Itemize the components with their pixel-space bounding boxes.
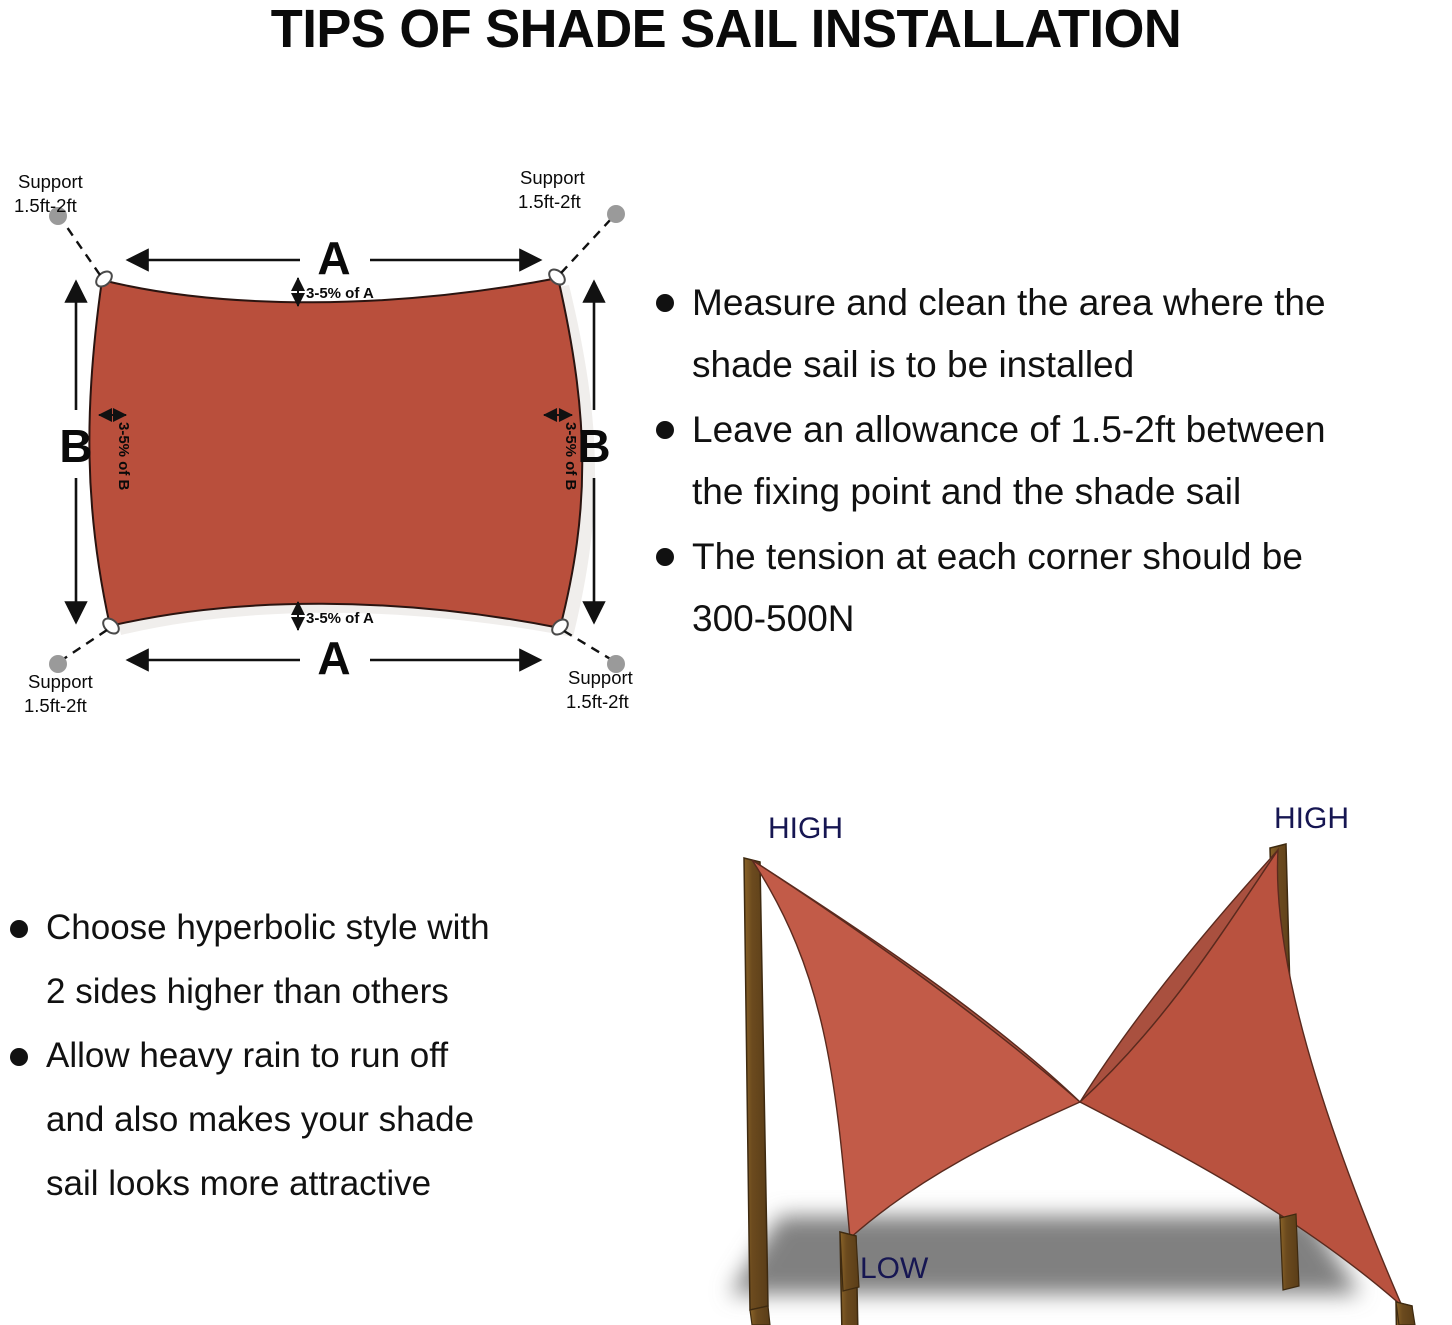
bullet-line: and also makes your shade (46, 1100, 474, 1139)
post-rear-left-high (744, 858, 768, 1310)
bullet-line: 2 sides higher than others (46, 972, 449, 1011)
list-item: Measure and clean the area where the sha… (648, 272, 1452, 396)
bullet-dot-icon (10, 920, 28, 938)
support-label-top-right-line2: 1.5ft-2ft (518, 191, 581, 212)
bullet-line: shade sail is to be installed (692, 344, 1134, 385)
bullet-line: Choose hyperbolic style with (46, 908, 490, 947)
tie-line-bottom-left (62, 630, 107, 660)
slack-label-right: 3-5% of B (562, 422, 579, 491)
bullet-dot-icon (656, 548, 674, 566)
sail-fabric (89, 278, 582, 628)
sail-left-lobe (752, 860, 1080, 1238)
tie-line-bottom-right (564, 631, 612, 660)
bullet-line: sail looks more attractive (46, 1164, 431, 1203)
bullet-line: Allow heavy rain to run off (46, 1036, 448, 1075)
list-item: The tension at each corner should be 300… (648, 526, 1452, 650)
post-front-right-low (1396, 1302, 1416, 1325)
support-label-bottom-right-line1: Support (568, 667, 633, 688)
page-title: TIPS OF SHADE SAIL INSTALLATION (22, 0, 1430, 62)
support-label-top-right-line1: Support (520, 167, 585, 188)
label-high-right: HIGH (1274, 802, 1349, 835)
support-label-bottom-right-line2: 1.5ft-2ft (566, 691, 629, 712)
bullet-line: the fixing point and the shade sail (692, 471, 1241, 512)
list-item: Allow heavy rain to run off and also mak… (2, 1024, 632, 1216)
support-label-bottom-left-line2: 1.5ft-2ft (24, 695, 87, 716)
slack-label-top: 3-5% of A (306, 285, 374, 302)
bullet-line: Leave an allowance of 1.5-2ft between (692, 409, 1326, 450)
dim-label-b-right: B (577, 420, 610, 472)
dim-label-a-bottom: A (317, 632, 350, 684)
rectangular-sail-diagram: A 3-5% of A A 3-5% of A B 3-5% of B B (0, 160, 660, 740)
bullet-line: Measure and clean the area where the (692, 282, 1326, 323)
bullet-dot-icon (656, 421, 674, 439)
tips-list-right: Measure and clean the area where the sha… (648, 272, 1452, 653)
support-dot-top-right (607, 205, 625, 223)
tie-line-top-left (62, 220, 100, 275)
infographic-page: TIPS OF SHADE SAIL INSTALLATION (0, 0, 1452, 1325)
dim-label-b-left: B (59, 420, 92, 472)
support-label-top-left-line2: 1.5ft-2ft (14, 195, 77, 216)
tie-line-top-right (561, 218, 612, 273)
bullet-dot-icon (10, 1048, 28, 1066)
hyperbolic-sail-diagram: HIGH HIGH LOW LOW (660, 786, 1452, 1325)
support-label-top-left-line1: Support (18, 171, 83, 192)
list-item: Leave an allowance of 1.5-2ft between th… (648, 399, 1452, 523)
bullet-dot-icon (656, 294, 674, 312)
slack-label-left: 3-5% of B (115, 422, 132, 491)
label-high-left: HIGH (768, 812, 843, 845)
dim-label-a-top: A (317, 232, 350, 284)
bullet-line: 300-500N (692, 598, 855, 639)
slack-label-bottom: 3-5% of A (306, 610, 374, 627)
tips-list-bottom-left: Choose hyperbolic style with 2 sides hig… (2, 896, 632, 1216)
bullet-line: The tension at each corner should be (692, 536, 1303, 577)
support-label-bottom-left-line1: Support (28, 671, 93, 692)
list-item: Choose hyperbolic style with 2 sides hig… (2, 896, 632, 1024)
label-low-left: LOW (860, 1252, 929, 1285)
